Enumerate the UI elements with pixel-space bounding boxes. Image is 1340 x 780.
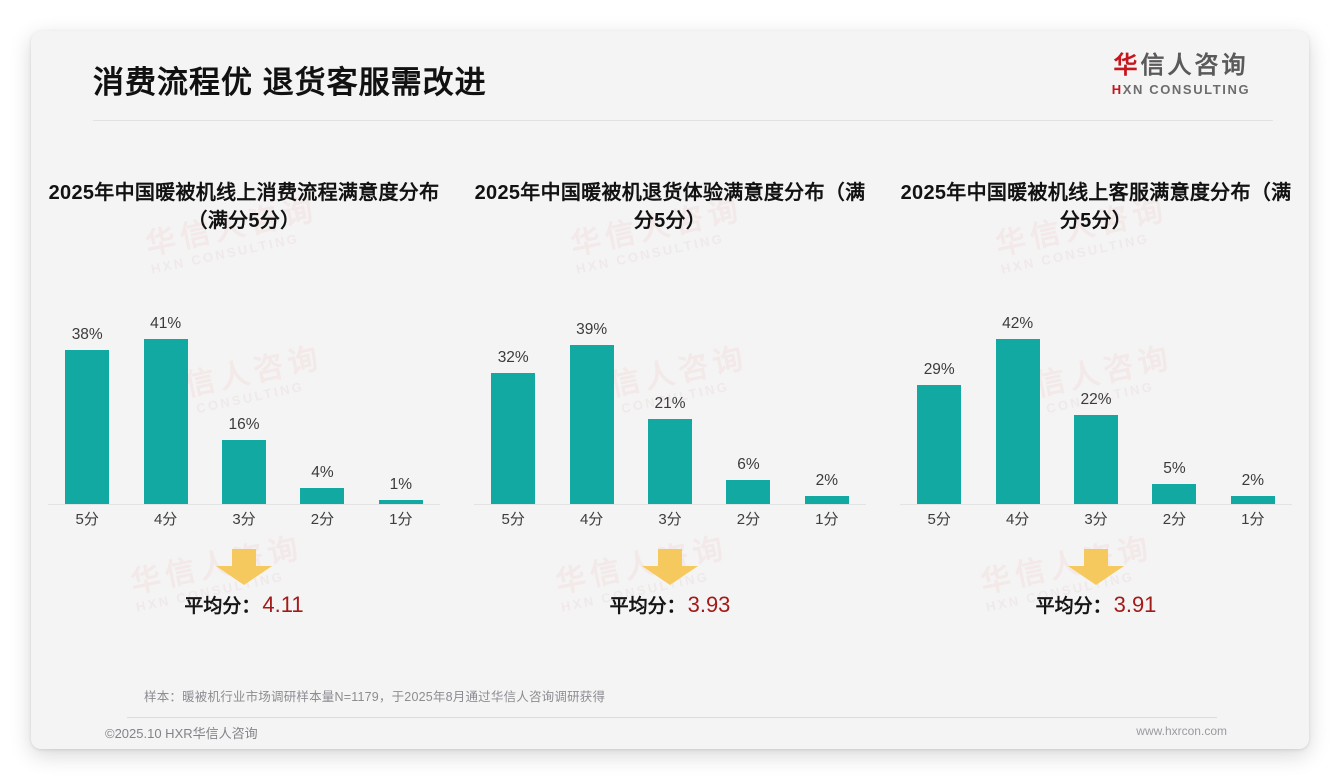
down-arrow-icon [1068,549,1124,585]
bar-value-label: 32% [498,349,529,367]
bar-column[interactable]: 38% [48,315,126,505]
bar-value-label: 4% [311,464,333,482]
bar-rect[interactable] [570,345,614,505]
slide-footer: ©2025.10 HXR华信人咨询 www.hxrcon.com [31,723,1309,749]
average-score-line: 平均分：3.91 [931,591,1261,618]
x-axis-tick-label: 1分 [1214,507,1292,533]
bar-value-label: 39% [576,321,607,339]
x-axis-tick-label: 5分 [48,507,126,533]
logo-cn-text: 华信人咨询 [1091,53,1271,79]
bar-rect[interactable] [996,339,1040,505]
bar-value-label: 41% [150,315,181,333]
logo-en-text: HXN CONSULTING [1091,82,1271,97]
logo-cn-rest: 信人咨询 [1141,52,1249,79]
x-axis-tick-label: 5分 [900,507,978,533]
average-score-block: 平均分：4.11 [79,549,409,618]
bar-column[interactable]: 41% [126,315,204,505]
bar-chart-plot: 32% 39% 21% 6% [474,301,866,533]
logo-en-mark: H [1112,82,1123,97]
bar-column[interactable]: 16% [205,315,283,505]
bar-rect[interactable] [222,440,266,505]
company-logo: 华信人咨询 HXN CONSULTING [1091,53,1271,97]
bar-column[interactable]: 1% [362,315,440,505]
x-axis-tick-label: 4分 [552,507,630,533]
average-score-line: 平均分：4.11 [79,591,409,618]
bar-column[interactable]: 6% [709,315,787,505]
bar-column[interactable]: 2% [1214,315,1292,505]
bar-column[interactable]: 29% [900,315,978,505]
bar-column[interactable]: 42% [978,315,1056,505]
bar-value-label: 5% [1163,460,1185,478]
x-axis-labels: 5分 4分 3分 2分 1分 [474,507,866,533]
x-axis-labels: 5分 4分 3分 2分 1分 [48,507,440,533]
average-score-label: 平均分： [610,596,686,617]
axis-baseline [48,504,440,505]
x-axis-tick-label: 3分 [631,507,709,533]
bar-rect[interactable] [726,480,770,505]
bar-value-label: 21% [655,395,686,413]
x-axis-tick-label: 3分 [205,507,283,533]
bar-rect[interactable] [648,419,692,505]
chart-title: 2025年中国暖被机线上客服满意度分布（满分5分） [896,179,1296,236]
bar-chart-plot: 29% 42% 22% 5% [900,301,1292,533]
bar-rect[interactable] [65,350,109,505]
bar-rect[interactable] [917,385,961,505]
slide-canvas: 华信人咨询 HXN CONSULTING 华信人咨询 HXN CONSULTIN… [31,31,1309,749]
average-score-line: 平均分：3.93 [505,591,835,618]
chart-title: 2025年中国暖被机退货体验满意度分布（满分5分） [470,179,870,236]
bar-column[interactable]: 39% [552,315,630,505]
x-axis-tick-label: 2分 [1135,507,1213,533]
bar-column[interactable]: 21% [631,315,709,505]
bar-value-label: 6% [737,456,759,474]
x-axis-tick-label: 2分 [283,507,361,533]
bar-column[interactable]: 2% [788,315,866,505]
down-arrow-icon [216,549,272,585]
average-score-label: 平均分： [1036,596,1112,617]
average-score-block: 平均分：3.93 [505,549,835,618]
axis-baseline [474,504,866,505]
copyright-text: ©2025.10 HXR华信人咨询 [105,723,258,742]
bar-value-label: 42% [1002,315,1033,333]
bar-column[interactable]: 5% [1135,315,1213,505]
bar-rect[interactable] [144,339,188,505]
down-arrow-icon [642,549,698,585]
bar-value-label: 1% [390,476,412,494]
header-divider [93,120,1273,121]
x-axis-tick-label: 4分 [978,507,1056,533]
bar-value-label: 29% [924,361,955,379]
chart-panel-consumption-process: 2025年中国暖被机线上消费流程满意度分布（满分5分） 38% 41% 16% [31,151,457,671]
x-axis-tick-label: 3分 [1057,507,1135,533]
average-score-value: 4.11 [262,592,303,617]
x-axis-tick-label: 5分 [474,507,552,533]
average-score-value: 3.91 [1114,592,1157,617]
chart-title: 2025年中国暖被机线上消费流程满意度分布（满分5分） [44,179,444,236]
bar-value-label: 38% [72,326,103,344]
page-title: 消费流程优 退货客服需改进 [93,57,487,102]
website-url[interactable]: www.hxrcon.com [1136,724,1227,738]
bar-column[interactable]: 32% [474,315,552,505]
chart-panel-return-experience: 2025年中国暖被机退货体验满意度分布（满分5分） 32% 39% 21% [457,151,883,671]
bar-rect[interactable] [300,488,344,505]
bar-rect[interactable] [491,373,535,505]
sample-note: 样本：暖被机行业市场调研样本量N=1179，于2025年8月通过华信人咨询调研获… [144,686,605,705]
chart-panel-customer-service: 2025年中国暖被机线上客服满意度分布（满分5分） 29% 42% 22% [883,151,1309,671]
bar-rect[interactable] [1152,484,1196,505]
x-axis-tick-label: 1分 [788,507,866,533]
bar-rect[interactable] [1074,415,1118,505]
x-axis-labels: 5分 4分 3分 2分 1分 [900,507,1292,533]
average-score-label: 平均分： [184,596,260,617]
x-axis-tick-label: 4分 [126,507,204,533]
footer-divider [127,717,1217,718]
bar-value-label: 2% [1242,472,1264,490]
average-score-value: 3.93 [688,592,731,617]
bar-series: 32% 39% 21% 6% [474,315,866,505]
slide-header: 消费流程优 退货客服需改进 华信人咨询 HXN CONSULTING [31,31,1309,123]
axis-baseline [900,504,1292,505]
bar-value-label: 22% [1081,391,1112,409]
charts-row: 2025年中国暖被机线上消费流程满意度分布（满分5分） 38% 41% 16% [31,151,1309,671]
bar-value-label: 16% [229,416,260,434]
bar-value-label: 2% [816,472,838,490]
bar-chart-plot: 38% 41% 16% 4% [48,301,440,533]
x-axis-tick-label: 2分 [709,507,787,533]
logo-en-rest: XN CONSULTING [1123,82,1250,97]
logo-accent-char: 华 [1114,52,1141,79]
bar-column[interactable]: 4% [283,315,361,505]
bar-series: 29% 42% 22% 5% [900,315,1292,505]
average-score-block: 平均分：3.91 [931,549,1261,618]
x-axis-tick-label: 1分 [362,507,440,533]
bar-series: 38% 41% 16% 4% [48,315,440,505]
bar-column[interactable]: 22% [1057,315,1135,505]
